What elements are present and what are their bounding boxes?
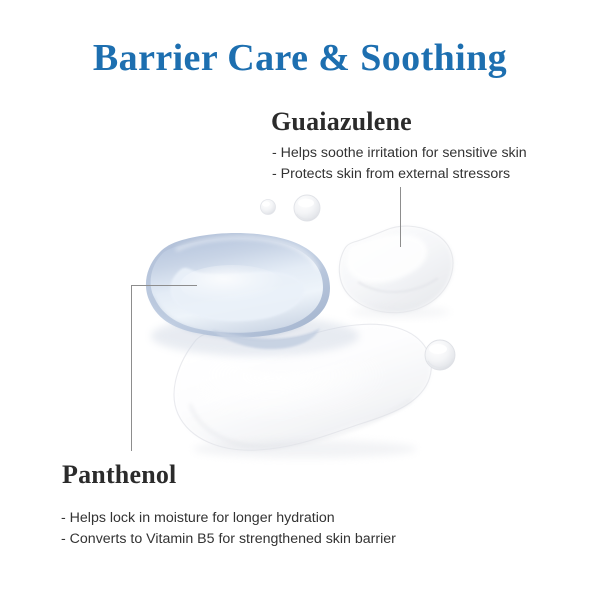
ingredient-heading-guaiazulene: Guaiazulene xyxy=(271,107,412,137)
blue-gel-blob xyxy=(146,233,359,356)
clear-gel-splash xyxy=(339,226,453,318)
ingredient-bullets-guaiazulene: - Helps soothe irritation for sensitive … xyxy=(272,143,527,185)
ingredient-heading-panthenol: Panthenol xyxy=(62,460,176,490)
bullet-item: - Converts to Vitamin B5 for strengthene… xyxy=(61,529,396,550)
bullet-item: - Helps soothe irritation for sensitive … xyxy=(272,143,527,164)
droplet-right xyxy=(425,340,455,370)
leader-line-panthenol-horizontal xyxy=(131,285,197,286)
ingredient-bullets-panthenol: - Helps lock in moisture for longer hydr… xyxy=(61,508,396,550)
leader-line-guaiazulene xyxy=(400,187,401,247)
droplet-small-left xyxy=(261,200,276,215)
leader-line-panthenol-vertical xyxy=(131,285,132,451)
droplet-medium-top xyxy=(294,195,320,221)
infographic-canvas: Barrier Care & Soothing Guaiazulene - He… xyxy=(0,0,600,600)
page-title: Barrier Care & Soothing xyxy=(0,36,600,80)
bullet-item: - Helps lock in moisture for longer hydr… xyxy=(61,508,396,529)
bullet-item: - Protects skin from external stressors xyxy=(272,164,527,185)
white-cream-blob xyxy=(174,324,431,458)
